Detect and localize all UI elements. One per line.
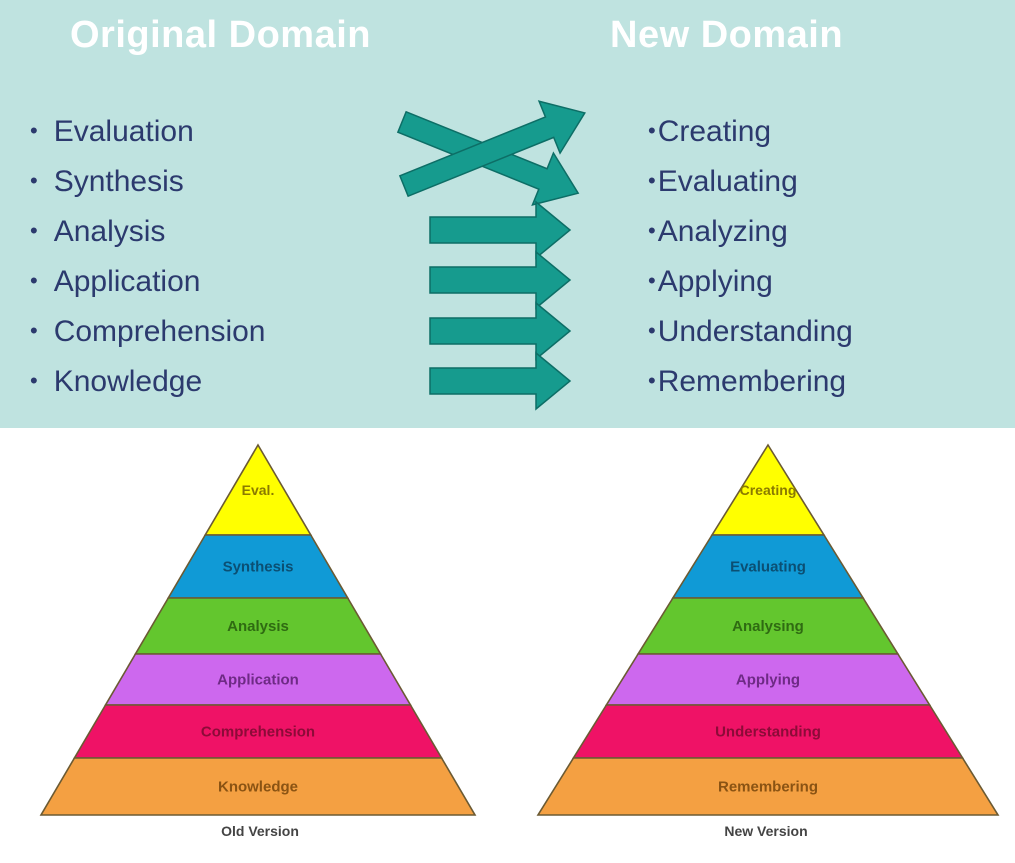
pyramid-layer-label: Remembering	[718, 779, 818, 796]
domain-comparison-panel: Original Domain New Domain •Evaluation •…	[0, 0, 1015, 428]
pyramid-layer-label: Synthesis	[223, 559, 294, 576]
new-version-pyramid: CreatingEvaluatingAnalysingApplyingUnder…	[538, 445, 998, 815]
pyramid-layer-label: Knowledge	[218, 779, 298, 796]
pyramid-layer-label: Evaluating	[730, 559, 806, 576]
bloom-taxonomy-comparison-figure: Original Domain New Domain •Evaluation •…	[0, 0, 1015, 863]
arrow-layer	[0, 0, 1015, 428]
pyramid-layer-label: Eval.	[242, 482, 275, 498]
pyramid-comparison-panel: Eval.SynthesisAnalysisApplicationCompreh…	[0, 428, 1015, 863]
pyramid-layer-label: Understanding	[715, 724, 821, 741]
arrow-knowledge-to-remembering	[430, 353, 570, 409]
pyramid-layer-label: Comprehension	[201, 724, 315, 741]
pyramid-layer-label: Application	[217, 672, 299, 689]
old-version-caption: Old Version	[140, 823, 380, 839]
pyramid-graphics: Eval.SynthesisAnalysisApplicationCompreh…	[0, 428, 1015, 863]
pyramid-layer-label: Analysing	[732, 618, 804, 635]
pyramid-layer-label: Applying	[736, 672, 800, 689]
arrow-application-to-applying	[430, 252, 570, 308]
new-version-caption: New Version	[646, 823, 886, 839]
pyramid-layer-label: Analysis	[227, 618, 289, 635]
pyramid-layer-label: Creating	[740, 482, 797, 498]
arrow-analysis-to-analyzing	[430, 202, 570, 258]
old-version-pyramid: Eval.SynthesisAnalysisApplicationCompreh…	[41, 445, 475, 815]
arrow-comprehension-to-understanding	[430, 303, 570, 359]
